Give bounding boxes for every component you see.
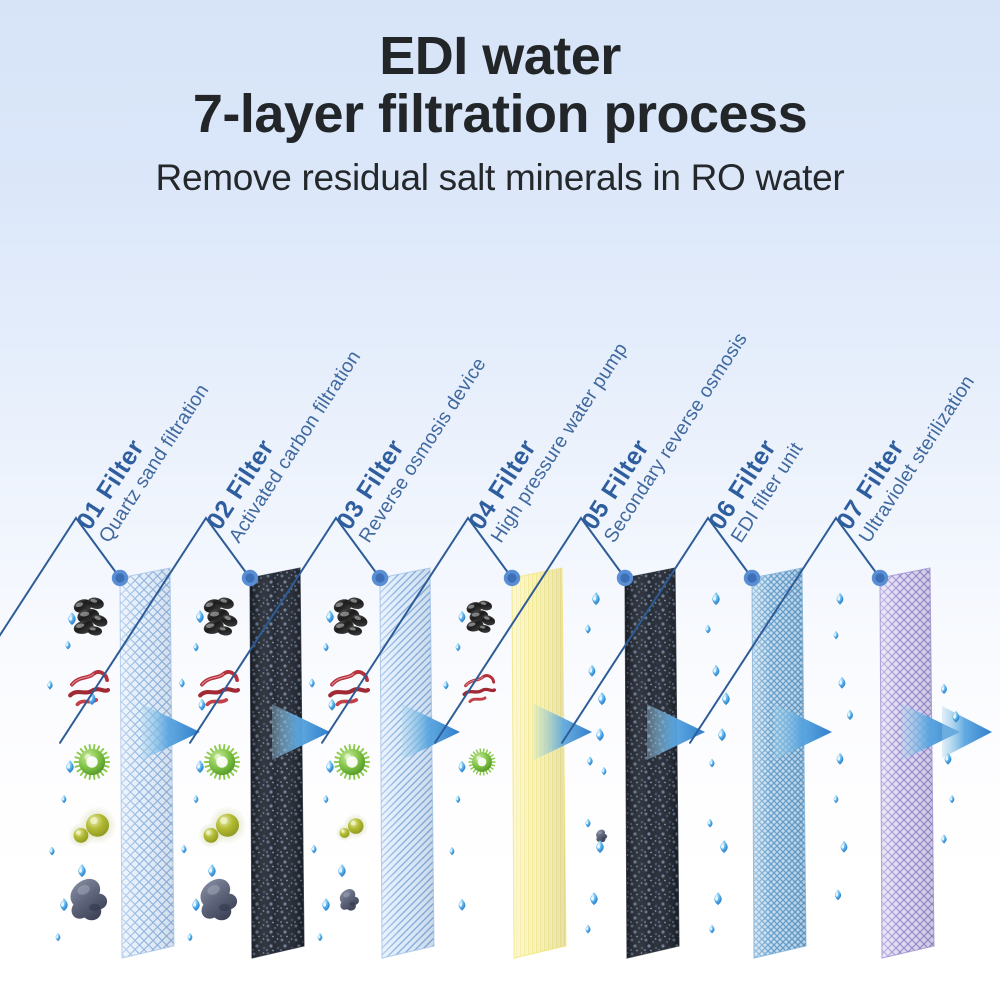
water-droplet <box>950 795 955 803</box>
water-droplet <box>196 760 203 773</box>
water-droplet <box>456 795 460 803</box>
bacteria-strand <box>464 676 494 702</box>
water-droplet <box>708 819 713 828</box>
water-droplets-group <box>47 592 959 941</box>
water-droplet <box>56 933 61 941</box>
water-droplet <box>444 681 449 690</box>
water-droplet <box>710 925 715 934</box>
water-droplet <box>188 933 193 941</box>
reverse-osmosis-panel <box>380 568 434 958</box>
water-droplet <box>66 641 71 650</box>
water-droplet <box>324 643 329 652</box>
water-droplet <box>602 767 607 775</box>
water-droplet <box>834 631 839 639</box>
water-droplet <box>60 898 67 911</box>
water-droplet <box>837 753 844 765</box>
water-droplet <box>837 593 844 605</box>
water-droplet <box>66 760 73 773</box>
flow-arrow <box>942 706 992 758</box>
water-droplet <box>713 665 720 677</box>
water-droplet <box>714 892 721 905</box>
high-pressure-pump-panel <box>512 568 566 958</box>
cyst-sphere <box>68 806 117 848</box>
water-droplet <box>68 612 75 625</box>
filter-panels-group <box>120 568 934 958</box>
water-droplet <box>459 611 466 623</box>
water-droplet <box>47 680 52 689</box>
virus-ring <box>75 745 109 779</box>
virus-ring <box>469 749 495 775</box>
infographic-canvas: EDI water 7-layer filtration process Rem… <box>0 0 1000 1000</box>
water-droplet <box>459 899 466 911</box>
sediment-particle-cluster <box>332 596 369 637</box>
water-droplet <box>78 864 85 877</box>
water-droplet <box>587 756 592 765</box>
water-droplet <box>589 665 596 677</box>
bacteria-strand <box>330 672 368 704</box>
water-droplet <box>586 925 591 934</box>
water-droplet <box>326 610 333 623</box>
water-droplet <box>322 898 329 911</box>
heavy-metal-blob <box>70 879 107 920</box>
water-droplet <box>182 845 187 854</box>
water-droplet <box>179 678 184 687</box>
virus-ring <box>205 745 239 779</box>
water-droplet <box>318 933 323 941</box>
water-droplet <box>718 728 725 741</box>
water-droplet <box>847 710 853 720</box>
water-droplet <box>326 760 333 773</box>
water-droplet <box>459 761 466 773</box>
water-droplet <box>592 592 599 605</box>
water-droplet <box>62 795 67 803</box>
water-droplet <box>590 892 597 905</box>
heavy-metal-blob <box>340 889 359 911</box>
uv-sterilization-panel <box>880 568 934 958</box>
water-droplet <box>941 834 946 843</box>
sediment-particle-cluster <box>465 599 496 633</box>
water-droplet <box>598 692 605 705</box>
water-droplet <box>196 610 203 623</box>
water-droplet <box>208 864 215 877</box>
heavy-metal-blob <box>596 830 607 843</box>
water-droplet <box>50 847 55 856</box>
water-droplet <box>596 728 603 741</box>
bacteria-strand <box>200 672 238 704</box>
water-droplet <box>338 864 345 877</box>
heavy-metal-blob <box>200 879 237 920</box>
water-droplet <box>199 699 206 711</box>
water-droplet <box>456 643 461 651</box>
quartz-sand-panel <box>120 568 174 958</box>
water-droplet <box>839 677 846 689</box>
water-droplet <box>710 759 715 768</box>
water-droplet <box>706 625 711 634</box>
secondary-ro-panel <box>625 568 679 958</box>
edi-filter-panel <box>752 568 806 958</box>
water-droplet <box>941 684 947 694</box>
water-droplet <box>834 795 839 803</box>
water-droplet <box>194 795 199 803</box>
water-droplet <box>841 841 848 853</box>
cyst-sphere <box>336 813 369 842</box>
water-droplet <box>835 889 841 900</box>
water-droplet <box>712 592 719 605</box>
sediment-particle-cluster <box>72 596 109 637</box>
water-droplet <box>720 840 727 853</box>
activated-carbon-panel <box>250 568 304 958</box>
cyst-sphere <box>198 806 247 848</box>
water-droplet <box>192 898 199 911</box>
water-droplet <box>586 819 591 828</box>
water-droplet <box>324 795 329 803</box>
water-droplet <box>194 643 199 652</box>
water-droplet <box>722 692 729 705</box>
water-droplet <box>329 699 336 711</box>
virus-ring <box>335 745 369 779</box>
water-droplet <box>450 847 455 855</box>
water-droplet <box>309 678 314 687</box>
sediment-particle-cluster <box>202 596 239 637</box>
water-droplet <box>585 624 590 633</box>
water-droplet <box>312 845 317 854</box>
